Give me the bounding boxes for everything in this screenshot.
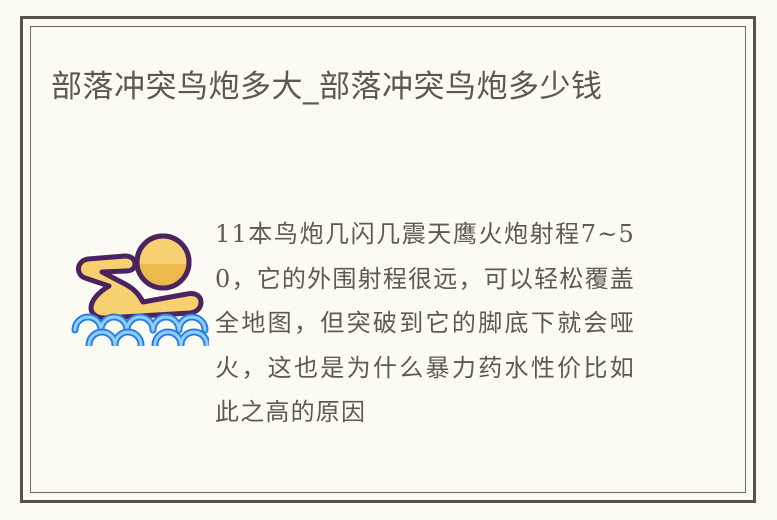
- article-body: 11本鸟炮几闪几震天鹰火炮射程7~50，它的外围射程很远，可以轻松覆盖全地图，但…: [51, 204, 731, 435]
- swimmer-icon: [69, 226, 209, 346]
- page-title: 部落冲突鸟炮多大_部落冲突鸟炮多少钱: [51, 63, 691, 111]
- article-body-text: 11本鸟炮几闪几震天鹰火炮射程7~50，它的外围射程很远，可以轻松覆盖全地图，但…: [211, 204, 635, 435]
- article-thumbnail[interactable]: [51, 204, 211, 354]
- page-root: 部落冲突鸟炮多大_部落冲突鸟炮多少钱: [0, 0, 777, 520]
- outer-frame: 部落冲突鸟炮多大_部落冲突鸟炮多少钱: [20, 16, 756, 503]
- content-area: 部落冲突鸟炮多大_部落冲突鸟炮多少钱: [23, 19, 753, 500]
